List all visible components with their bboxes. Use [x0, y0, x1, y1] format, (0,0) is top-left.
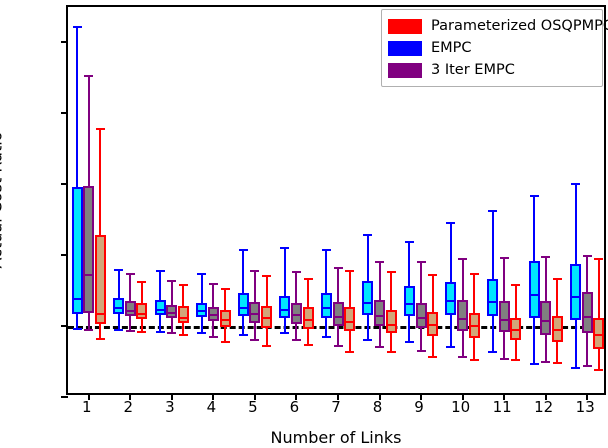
whisker-cap-lower [292, 339, 301, 341]
whisker-cap-upper [239, 249, 248, 251]
whisker-cap-upper [197, 273, 206, 275]
x-tick-label: 6 [290, 398, 300, 416]
whisker-upper [337, 268, 339, 302]
box-rect [487, 279, 498, 317]
whisker-cap-lower [126, 330, 135, 332]
whisker-cap-upper [137, 281, 146, 283]
whisker-cap-lower [322, 336, 331, 338]
whisker-upper [88, 76, 90, 185]
x-tick-label: 2 [124, 398, 134, 416]
y-tick-mark [61, 41, 68, 43]
whisker-cap-upper [280, 247, 289, 249]
whisker-upper [129, 274, 131, 302]
box-rect [362, 281, 373, 315]
whisker-cap-upper [500, 257, 509, 259]
whisker-cap-lower [137, 331, 146, 333]
median-line [404, 303, 415, 305]
x-tick-label: 7 [331, 398, 341, 416]
figure: Actual Cost Ratio Number of Links Parame… [0, 0, 608, 448]
whisker-lower [224, 327, 226, 342]
whisker-cap-lower [446, 346, 455, 348]
whisker-cap-lower [96, 338, 105, 340]
whisker-lower [76, 314, 78, 329]
whisker-cap-lower [488, 351, 497, 353]
whisker-upper [586, 256, 588, 292]
median-line [333, 316, 344, 318]
whisker-cap-lower [530, 363, 539, 365]
whisker-lower [337, 326, 339, 346]
reference-line [68, 326, 604, 329]
whisker-lower [503, 332, 505, 359]
whisker-lower [367, 315, 369, 340]
whisker-cap-upper [583, 255, 592, 257]
whisker-cap-lower [304, 344, 313, 346]
median-line [386, 324, 397, 326]
median-line [279, 309, 290, 311]
whisker-lower [242, 316, 244, 334]
legend-item: 3 Iter EMPC [388, 59, 596, 81]
whisker-lower [473, 338, 475, 360]
box-rect [83, 186, 94, 313]
whisker-cap-upper [594, 258, 603, 260]
whisker-upper [408, 242, 410, 286]
whisker-lower [159, 315, 161, 331]
whisker-lower [545, 335, 547, 362]
whisker-upper [266, 276, 268, 305]
median-line [427, 324, 438, 326]
median-line [344, 321, 355, 323]
whisker-lower [129, 316, 131, 331]
whisker-upper [492, 211, 494, 279]
whisker-cap-upper [84, 75, 93, 77]
whisker-cap-upper [446, 222, 455, 224]
box-rect [445, 282, 456, 315]
x-tick-label: 8 [373, 398, 383, 416]
whisker-cap-lower [345, 351, 354, 353]
whisker-cap-lower [221, 341, 230, 343]
whisker-cap-lower [209, 336, 218, 338]
whisker-lower [390, 333, 392, 351]
whisker-lower [432, 336, 434, 357]
x-tick-label: 9 [414, 398, 424, 416]
y-axis-label: Actual Cost Ratio [0, 132, 6, 269]
whisker-cap-upper [345, 270, 354, 272]
whisker-upper [462, 259, 464, 300]
x-tick-label: 3 [165, 398, 175, 416]
whisker-cap-lower [571, 367, 580, 369]
whisker-cap-upper [96, 128, 105, 130]
whisker-cap-upper [73, 26, 82, 28]
whisker-cap-upper [250, 270, 259, 272]
whisker-upper [349, 271, 351, 307]
whisker-lower [266, 328, 268, 346]
median-line [220, 319, 231, 321]
whisker-lower [450, 315, 452, 348]
median-line [457, 318, 468, 320]
legend: Parameterized OSQPMPC EMPC 3 Iter EMPC [381, 9, 603, 87]
box-rect [136, 303, 147, 319]
box-rect [321, 293, 332, 318]
median-line [291, 314, 302, 316]
y-tick-mark [61, 112, 68, 114]
whisker-cap-lower [73, 328, 82, 330]
whisker-lower [212, 321, 214, 337]
whisker-cap-lower [262, 345, 271, 347]
whisker-cap-lower [387, 351, 396, 353]
x-tick-label: 13 [576, 398, 595, 416]
median-line [552, 329, 563, 331]
x-tick-label: 4 [207, 398, 217, 416]
median-line [540, 320, 551, 322]
whisker-cap-upper [304, 278, 313, 280]
median-line [196, 310, 207, 312]
whisker-cap-upper [262, 275, 271, 277]
legend-swatch-empc [388, 41, 422, 56]
median-line [166, 312, 177, 314]
whisker-cap-lower [594, 369, 603, 371]
whisker-upper [212, 284, 214, 307]
y-tick-mark [61, 325, 68, 327]
whisker-upper [450, 223, 452, 283]
median-line [570, 296, 581, 298]
whisker-lower [492, 316, 494, 351]
whisker-cap-lower [84, 329, 93, 331]
whisker-lower [171, 318, 173, 334]
box-rect [220, 310, 231, 327]
median-line [95, 313, 106, 315]
whisker-cap-upper [334, 267, 343, 269]
median-line [208, 314, 219, 316]
whisker-upper [420, 262, 422, 302]
box-rect [333, 302, 344, 326]
whisker-lower [533, 318, 535, 365]
whisker-cap-lower [405, 341, 414, 343]
whisker-cap-lower [375, 346, 384, 348]
whisker-cap-upper [387, 271, 396, 273]
whisker-lower [88, 313, 90, 331]
box-rect [155, 300, 166, 316]
legend-swatch-3-iter-empc [388, 63, 422, 78]
legend-label: 3 Iter EMPC [431, 62, 515, 78]
whisker-upper [242, 250, 244, 293]
whisker-upper [533, 196, 535, 261]
legend-label: Parameterized OSQPMPC [431, 18, 608, 34]
whisker-upper [575, 184, 577, 263]
whisker-cap-lower [428, 356, 437, 358]
whisker-upper [159, 271, 161, 299]
whisker-lower [598, 349, 600, 370]
box-rect [166, 305, 177, 318]
whisker-upper [254, 271, 256, 302]
whisker-cap-lower [541, 361, 550, 363]
whisker-cap-lower [470, 359, 479, 361]
whisker-cap-lower [553, 362, 562, 364]
whisker-cap-upper [375, 261, 384, 263]
box-rect [457, 300, 468, 331]
median-line [155, 309, 166, 311]
median-line [593, 334, 604, 336]
whisker-upper [432, 275, 434, 312]
whisker-cap-lower [417, 350, 426, 352]
whisker-cap-lower [239, 334, 248, 336]
whisker-upper [295, 272, 297, 303]
box-rect [95, 235, 106, 324]
whisker-cap-lower [197, 332, 206, 334]
whisker-upper [201, 274, 203, 302]
whisker-lower [586, 333, 588, 366]
whisker-lower [99, 324, 101, 339]
x-tick-label: 12 [534, 398, 553, 416]
whisker-lower [307, 329, 309, 345]
whisker-upper [99, 129, 101, 235]
x-tick-label: 11 [493, 398, 512, 416]
whisker-cap-upper [488, 210, 497, 212]
legend-swatch-parameterized-osqpmpc [388, 19, 422, 34]
whisker-lower [284, 318, 286, 334]
box-rect [570, 264, 581, 321]
whisker-cap-upper [114, 269, 123, 271]
whisker-cap-upper [156, 270, 165, 272]
whisker-lower [201, 317, 203, 333]
whisker-cap-upper [179, 284, 188, 286]
whisker-cap-lower [583, 365, 592, 367]
box-rect [416, 303, 427, 329]
whisker-cap-lower [363, 339, 372, 341]
whisker-upper [367, 235, 369, 281]
whisker-upper [379, 262, 381, 300]
whisker-cap-lower [114, 329, 123, 331]
box-rect [386, 310, 397, 333]
box-rect [529, 261, 540, 318]
whisker-lower [575, 320, 577, 368]
box-rect [125, 301, 136, 316]
whisker-upper [556, 279, 558, 316]
whisker-cap-upper [553, 278, 562, 280]
whisker-cap-upper [292, 271, 301, 273]
box-rect [540, 301, 551, 335]
x-tick-label: 10 [451, 398, 470, 416]
whisker-upper [503, 258, 505, 301]
median-line [529, 294, 540, 296]
whisker-cap-lower [511, 359, 520, 361]
median-line [582, 316, 593, 318]
whisker-cap-lower [334, 345, 343, 347]
box-rect [344, 307, 355, 331]
x-tick-label: 5 [248, 398, 258, 416]
whisker-cap-lower [156, 331, 165, 333]
whisker-cap-upper [405, 241, 414, 243]
whisker-upper [390, 272, 392, 310]
whisker-cap-lower [280, 332, 289, 334]
whisker-cap-upper [126, 273, 135, 275]
median-line [72, 298, 83, 300]
median-line [125, 310, 136, 312]
median-line [416, 317, 427, 319]
whisker-lower [462, 331, 464, 357]
median-line [249, 313, 260, 315]
whisker-cap-upper [470, 273, 479, 275]
whisker-lower [325, 318, 327, 338]
whisker-upper [182, 285, 184, 306]
whisker-upper [473, 274, 475, 313]
whisker-cap-upper [541, 256, 550, 258]
y-tick-mark [61, 396, 68, 398]
whisker-lower [515, 340, 517, 361]
median-line [136, 313, 147, 315]
whisker-upper [307, 279, 309, 307]
whisker-cap-upper [322, 249, 331, 251]
whisker-upper [171, 281, 173, 304]
median-line [374, 315, 385, 317]
whisker-cap-lower [179, 334, 188, 336]
median-line [445, 300, 456, 302]
whisker-upper [515, 285, 517, 318]
whisker-upper [545, 257, 547, 301]
whisker-cap-upper [428, 274, 437, 276]
whisker-upper [141, 282, 143, 303]
whisker-lower [254, 323, 256, 341]
whisker-lower [379, 326, 381, 347]
whisker-upper [598, 259, 600, 318]
median-line [321, 307, 332, 309]
whisker-cap-upper [363, 234, 372, 236]
x-tick-label: 1 [82, 398, 92, 416]
median-line [113, 307, 124, 309]
whisker-cap-lower [500, 358, 509, 360]
y-tick-mark [61, 254, 68, 256]
box-rect [279, 296, 290, 318]
y-tick-mark [61, 183, 68, 185]
whisker-upper [284, 248, 286, 296]
whisker-upper [76, 27, 78, 187]
whisker-lower [556, 342, 558, 363]
whisker-cap-upper [417, 261, 426, 263]
whisker-cap-upper [530, 195, 539, 197]
median-line [510, 329, 521, 331]
legend-label: EMPC [431, 40, 472, 56]
median-line [83, 274, 94, 276]
box-rect [582, 292, 593, 333]
median-line [303, 319, 314, 321]
median-line [487, 301, 498, 303]
x-axis-label: Number of Links [271, 428, 402, 447]
whisker-cap-lower [167, 332, 176, 334]
whisker-cap-upper [221, 288, 230, 290]
whisker-upper [325, 250, 327, 293]
whisker-lower [420, 328, 422, 351]
whisker-cap-upper [511, 284, 520, 286]
whisker-cap-lower [250, 339, 259, 341]
median-line [178, 317, 189, 319]
box-rect [72, 187, 83, 314]
median-line [469, 325, 480, 327]
legend-item: Parameterized OSQPMPC [388, 15, 596, 37]
whisker-lower [118, 314, 120, 330]
whisker-lower [408, 316, 410, 342]
median-line [499, 319, 510, 321]
whisker-upper [224, 289, 226, 310]
whisker-lower [349, 331, 351, 352]
whisker-cap-upper [458, 258, 467, 260]
whisker-lower [295, 324, 297, 340]
box-rect [404, 286, 415, 316]
median-line [261, 317, 272, 319]
median-line [362, 302, 373, 304]
box-rect [178, 306, 189, 323]
box-rect [374, 300, 385, 326]
whisker-cap-lower [458, 356, 467, 358]
legend-item: EMPC [388, 37, 596, 59]
box-rect [499, 301, 510, 331]
whisker-cap-upper [209, 283, 218, 285]
whisker-upper [118, 270, 120, 298]
box-rect [238, 293, 249, 316]
whisker-cap-upper [571, 183, 580, 185]
whisker-cap-upper [167, 280, 176, 282]
box-rect [113, 298, 124, 314]
median-line [238, 307, 249, 309]
